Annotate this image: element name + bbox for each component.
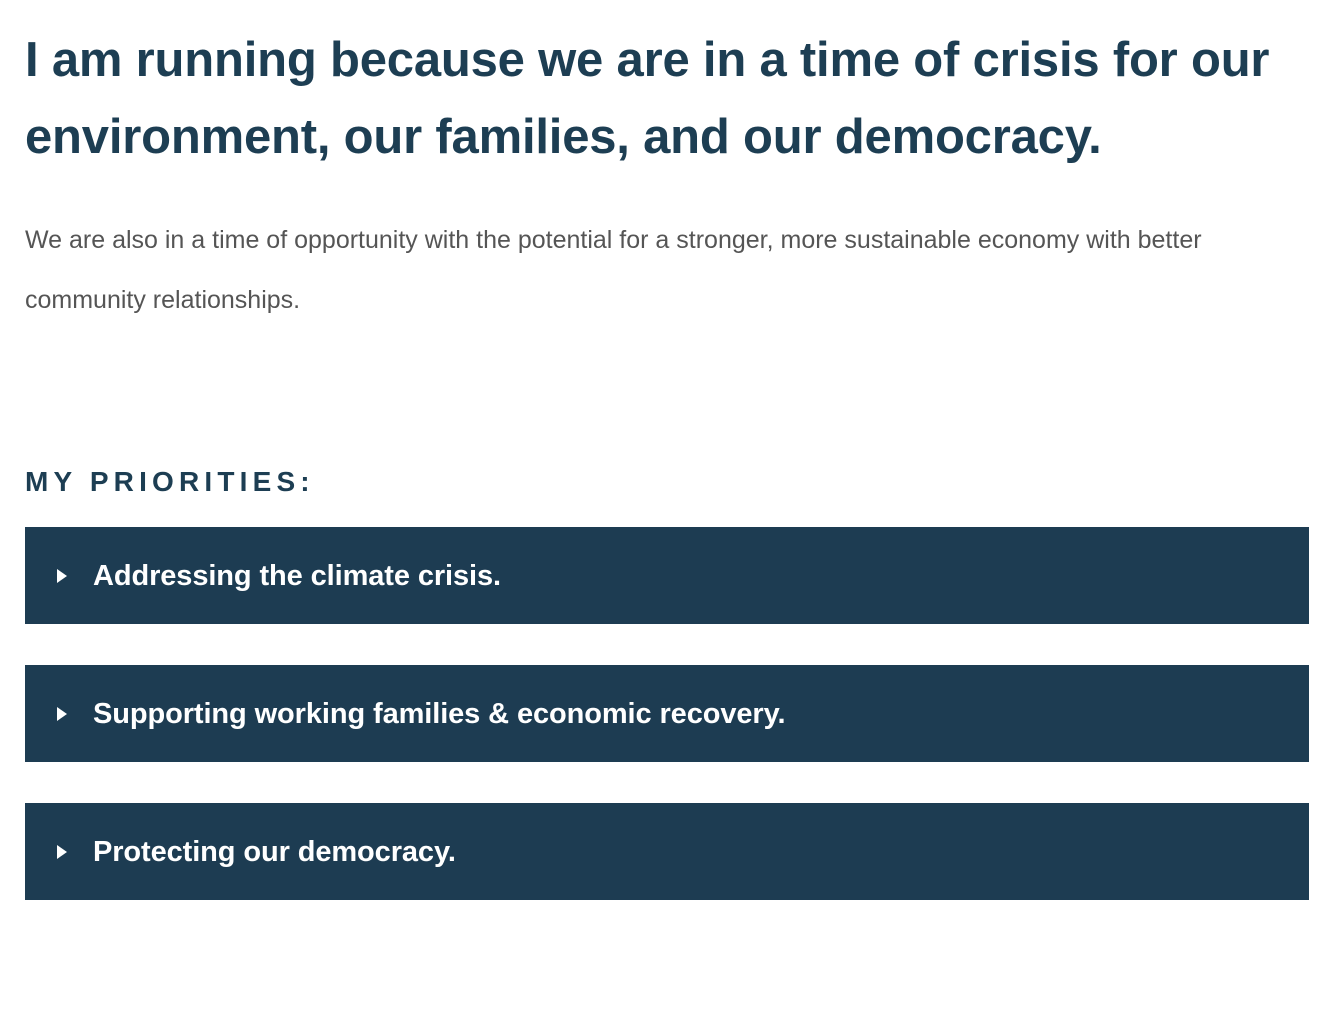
priorities-accordion: Addressing the climate crisis. Supportin… [25,499,1309,900]
accordion-item-label: Addressing the climate crisis. [93,559,501,593]
accordion-item-label: Supporting working families & economic r… [93,697,785,731]
accordion-item-climate-crisis[interactable]: Addressing the climate crisis. [25,527,1309,624]
triangle-right-icon [57,569,67,583]
accordion-item-democracy[interactable]: Protecting our democracy. [25,803,1309,900]
priorities-section-label: MY PRIORITIES: [25,330,1309,499]
accordion-item-label: Protecting our democracy. [93,835,456,869]
page-title: I am running because we are in a time of… [25,0,1280,176]
intro-paragraph: We are also in a time of opportunity wit… [25,176,1215,330]
accordion-item-working-families[interactable]: Supporting working families & economic r… [25,665,1309,762]
triangle-right-icon [57,845,67,859]
triangle-right-icon [57,707,67,721]
priorities-page: I am running because we are in a time of… [0,0,1334,1024]
